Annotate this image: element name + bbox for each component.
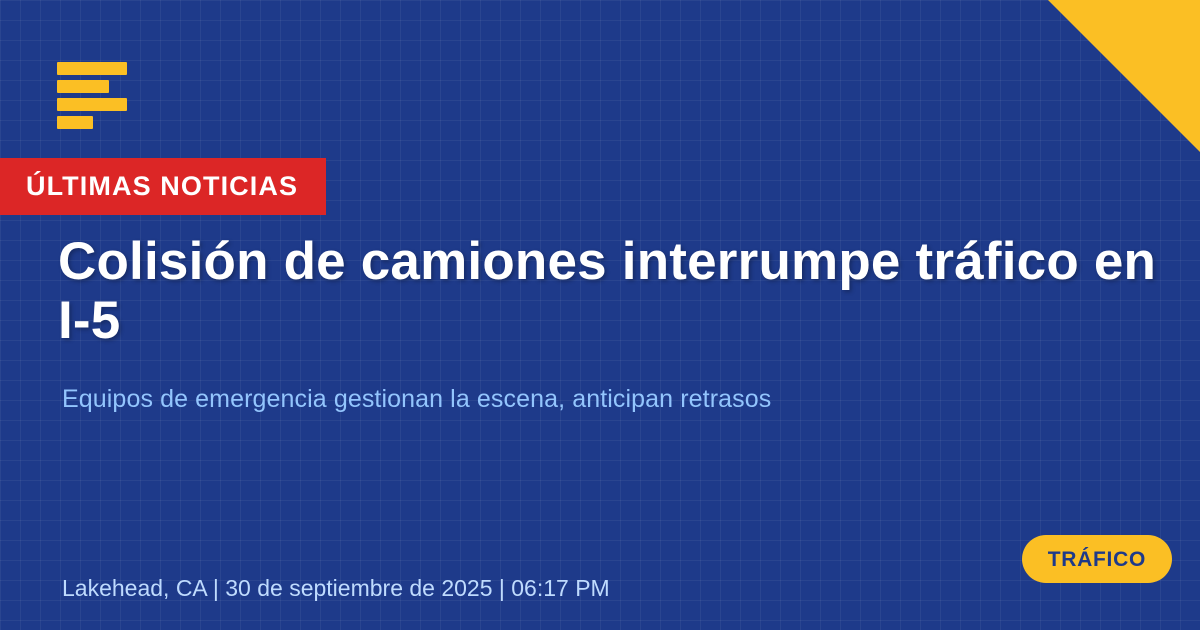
breaking-news-card: ÚLTIMAS NOTICIAS Colisión de camiones in… [0, 0, 1200, 630]
headline: Colisión de camiones interrumpe tráfico … [58, 232, 1200, 351]
logo-bar-3 [57, 98, 127, 111]
subtitle: Equipos de emergencia gestionan la escen… [62, 383, 1112, 416]
logo-bar-2 [57, 80, 109, 93]
category-badge[interactable]: TRÁFICO [1022, 535, 1172, 583]
footer-meta: Lakehead, CA | 30 de septiembre de 2025 … [62, 575, 610, 603]
breaking-news-badge: ÚLTIMAS NOTICIAS [0, 158, 326, 215]
breaking-news-badge-label: ÚLTIMAS NOTICIAS [26, 173, 298, 200]
corner-triangle-decoration [1048, 0, 1200, 152]
category-badge-label: TRÁFICO [1048, 549, 1146, 570]
logo-bar-4 [57, 116, 93, 129]
brand-logo[interactable] [57, 62, 129, 128]
logo-bar-1 [57, 62, 127, 75]
